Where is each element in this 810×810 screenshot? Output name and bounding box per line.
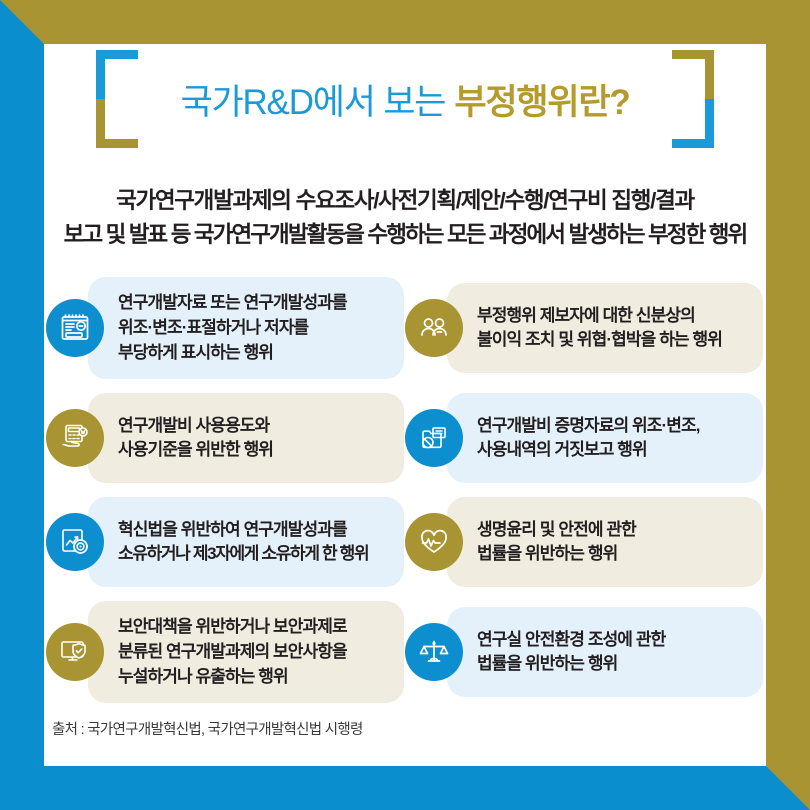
monitor-shield-check-icon: [46, 623, 104, 681]
card-text-line: 위조·변조·표절하거나 저자를: [118, 316, 390, 341]
frame-border-bottom: [0, 766, 810, 810]
page-title: 국가R&D에서 보는 부정행위란?: [44, 50, 766, 148]
frame-border-top: [0, 0, 810, 44]
card-text-line: 혁신법을 위반하여 연구개발성과를: [118, 518, 390, 543]
list-item[interactable]: 생명윤리 및 안전에 관한 법률을 위반하는 행위: [404, 496, 763, 588]
subtitle-line-2: 보고 및 발표 등 국가연구개발활동을 수행하는 모든 과정에서 발생하는 부정…: [50, 218, 760, 252]
card-text-line: 연구실 안전환경 조성에 관한: [477, 628, 749, 653]
calculator-hand-money-icon: [46, 409, 104, 467]
list-item[interactable]: 보안대책을 위반하거나 보안과제로 분류된 연구개발과제의 보안사항을 누설하거…: [45, 600, 404, 704]
list-item[interactable]: 부정행위 제보자에 대한 신분상의 불이익 조치 및 위협·협박을 하는 행위: [404, 276, 763, 380]
card-body: 연구실 안전환경 조성에 관한 법률을 위반하는 행위: [447, 607, 763, 697]
whistleblower-people-icon: [405, 299, 463, 357]
card-row: 혁신법을 위반하여 연구개발성과를 소유하거나 제3자에게 소유하게 한 행위 …: [45, 496, 763, 588]
card-body: 연구개발비 사용용도와 사용기준을 위반한 행위: [88, 393, 404, 483]
card-body: 연구개발비 증명자료의 위조·변조, 사용내역의 거짓보고 행위: [447, 393, 763, 483]
card-text-line: 부정행위 제보자에 대한 신분상의: [477, 304, 749, 329]
card-text-line: 부당하게 표시하는 행위: [118, 341, 390, 366]
header: 국가R&D에서 보는 부정행위란?: [44, 44, 766, 184]
chart-target-icon: [46, 513, 104, 571]
subtitle-line-1: 국가연구개발과제의 수요조사/사전기획/제안/수행/연구비 집행/결과: [50, 184, 760, 218]
card-text-line: 법률을 위반하는 행위: [477, 542, 749, 567]
card-text-line: 연구개발비 증명자료의 위조·변조,: [477, 414, 749, 439]
card-row: 연구개발비 사용용도와 사용기준을 위반한 행위: [45, 392, 763, 484]
poster-content: 국가R&D에서 보는 부정행위란? 국가연구개발과제의 수요조사/사전기획/제안…: [44, 44, 766, 766]
card-body: 부정행위 제보자에 대한 신분상의 불이익 조치 및 위협·협박을 하는 행위: [447, 283, 763, 373]
infographic-poster: 국가R&D에서 보는 부정행위란? 국가연구개발과제의 수요조사/사전기획/제안…: [0, 0, 810, 810]
frame-border-left: [0, 0, 44, 810]
card-body: 연구개발자료 또는 연구개발성과를 위조·변조·표절하거나 저자를 부당하게 표…: [88, 277, 404, 379]
card-text-line: 누설하거나 유출하는 행위: [118, 665, 390, 690]
page-title-accent: 부정행위란?: [454, 74, 629, 125]
frame-corner-top-left: [0, 0, 44, 44]
card-text-line: 사용기준을 위반한 행위: [118, 438, 390, 463]
card-row: 보안대책을 위반하거나 보안과제로 분류된 연구개발과제의 보안사항을 누설하거…: [45, 600, 763, 704]
list-item[interactable]: 연구개발자료 또는 연구개발성과를 위조·변조·표절하거나 저자를 부당하게 표…: [45, 276, 404, 380]
card-body: 혁신법을 위반하여 연구개발성과를 소유하거나 제3자에게 소유하게 한 행위: [88, 497, 404, 587]
list-item[interactable]: 연구개발비 증명자료의 위조·변조, 사용내역의 거짓보고 행위: [404, 392, 763, 484]
heart-pulse-icon: [405, 513, 463, 571]
scales-justice-icon: [405, 623, 463, 681]
card-text-line: 생명윤리 및 안전에 관한: [477, 518, 749, 543]
card-body: 생명윤리 및 안전에 관한 법률을 위반하는 행위: [447, 497, 763, 587]
subtitle: 국가연구개발과제의 수요조사/사전기획/제안/수행/연구비 집행/결과 보고 및…: [50, 184, 760, 252]
card-text-line: 분류된 연구개발과제의 보안사항을: [118, 640, 390, 665]
card-text-line: 법률을 위반하는 행위: [477, 652, 749, 677]
card-text-line: 사용내역의 거짓보고 행위: [477, 438, 749, 463]
card-body: 보안대책을 위반하거나 보안과제로 분류된 연구개발과제의 보안사항을 누설하거…: [88, 601, 404, 703]
card-text-line: 소유하거나 제3자에게 소유하게 한 행위: [118, 542, 390, 567]
list-item[interactable]: 연구개발비 사용용도와 사용기준을 위반한 행위: [45, 392, 404, 484]
frame-corner-bottom-right: [766, 766, 810, 810]
frame-border-right: [766, 0, 810, 810]
card-text-line: 연구개발비 사용용도와: [118, 414, 390, 439]
card-text-line: 보안대책을 위반하거나 보안과제로: [118, 615, 390, 640]
list-item[interactable]: 혁신법을 위반하여 연구개발성과를 소유하거나 제3자에게 소유하게 한 행위: [45, 496, 404, 588]
list-item[interactable]: 연구실 안전환경 조성에 관한 법률을 위반하는 행위: [404, 600, 763, 704]
certificate-document-icon: [46, 299, 104, 357]
folder-prohibited-icon: [405, 409, 463, 467]
misconduct-card-grid: 연구개발자료 또는 연구개발성과를 위조·변조·표절하거나 저자를 부당하게 표…: [44, 276, 766, 704]
source-note: 출처 : 국가연구개발혁신법, 국가연구개발혁신법 시행령: [44, 718, 766, 739]
card-text-line: 연구개발자료 또는 연구개발성과를: [118, 291, 390, 316]
page-title-main: 국가R&D에서 보는: [180, 74, 445, 125]
card-text-line: 불이익 조치 및 위협·협박을 하는 행위: [477, 328, 749, 353]
card-row: 연구개발자료 또는 연구개발성과를 위조·변조·표절하거나 저자를 부당하게 표…: [45, 276, 763, 380]
